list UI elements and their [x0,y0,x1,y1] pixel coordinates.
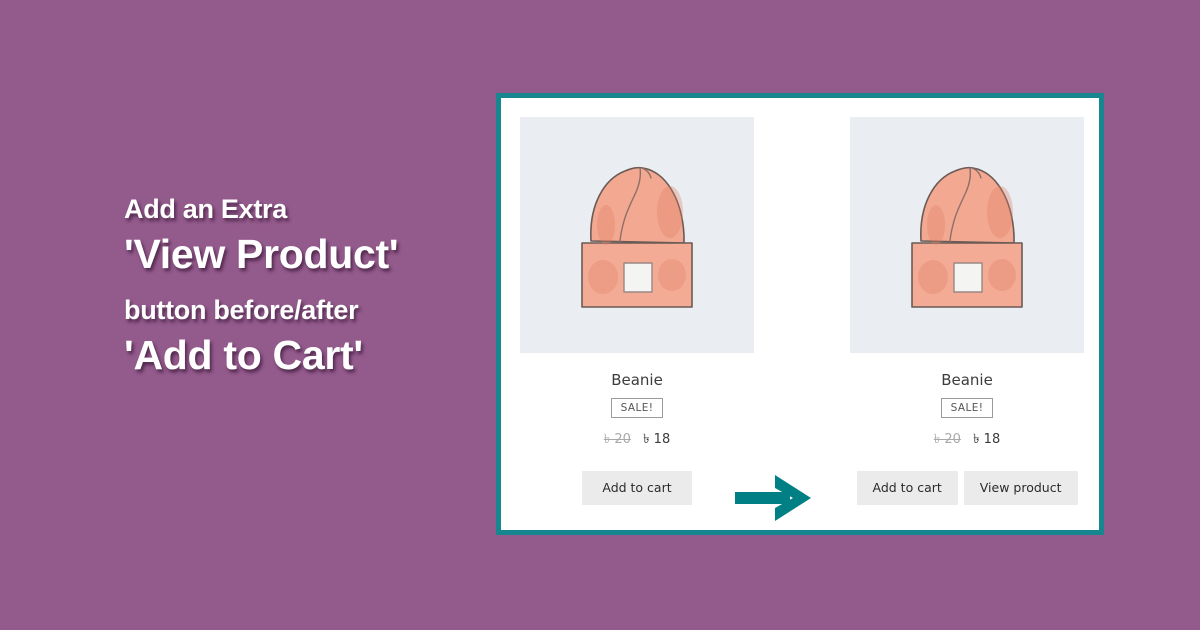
status-badge: SALE! [941,398,994,418]
product-card-before[interactable]: Beanie SALE! ৳ 20 ৳ 18 Add to cart [520,117,754,505]
price-sale: ৳ 18 [643,432,670,447]
product-card-after[interactable]: Beanie SALE! ৳ 20 ৳ 18 Add to cart View … [850,117,1084,505]
add-to-cart-button[interactable]: Add to cart [857,471,958,506]
headline-line-4: 'Add to Cart' [124,335,474,376]
panel-inner: Beanie SALE! ৳ 20 ৳ 18 Add to cart [501,98,1099,530]
card-button-row: Add to cart View product [850,471,1084,506]
sale-badge-wrap: SALE! [520,398,754,418]
headline-line-2: 'View Product' [124,234,474,275]
promo-headline: Add an Extra 'View Product' button befor… [124,196,474,376]
price-original: ৳ 20 [604,432,631,447]
add-to-cart-button[interactable]: Add to cart [582,471,691,506]
product-preview-panel: Beanie SALE! ৳ 20 ৳ 18 Add to cart [496,93,1104,535]
status-badge: SALE! [611,398,664,418]
price-row: ৳ 20 ৳ 18 [850,430,1084,451]
arrow-right-icon [735,473,815,523]
beanie-product-image[interactable] [520,117,754,353]
beanie-product-image[interactable] [850,117,1084,353]
headline-line-3: button before/after [124,297,474,324]
view-product-button[interactable]: View product [964,471,1078,506]
price-original: ৳ 20 [934,432,961,447]
card-button-row: Add to cart [520,471,754,506]
sale-badge-wrap: SALE! [850,398,1084,418]
price-sale: ৳ 18 [973,432,1000,447]
product-title: Beanie [520,371,754,389]
product-title: Beanie [850,371,1084,389]
headline-line-1: Add an Extra [124,196,474,223]
price-row: ৳ 20 ৳ 18 [520,430,754,451]
